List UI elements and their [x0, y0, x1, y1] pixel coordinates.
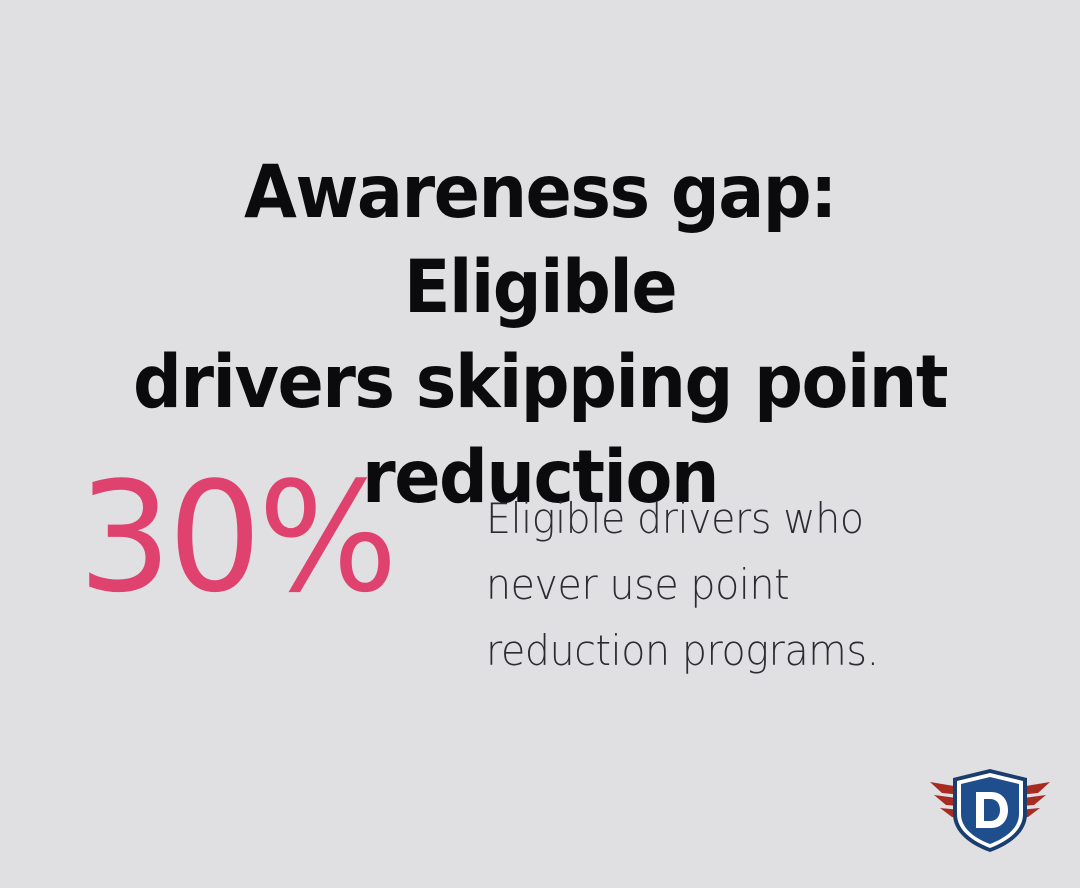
stat-description: Eligible drivers who never use point red…: [486, 462, 956, 684]
stat-row: 30% Eligible drivers who never use point…: [78, 462, 998, 684]
infographic-card: Awareness gap: Eligible drivers skipping…: [0, 0, 1080, 888]
stat-value: 30%: [78, 462, 466, 614]
brand-logo: [928, 762, 1052, 856]
